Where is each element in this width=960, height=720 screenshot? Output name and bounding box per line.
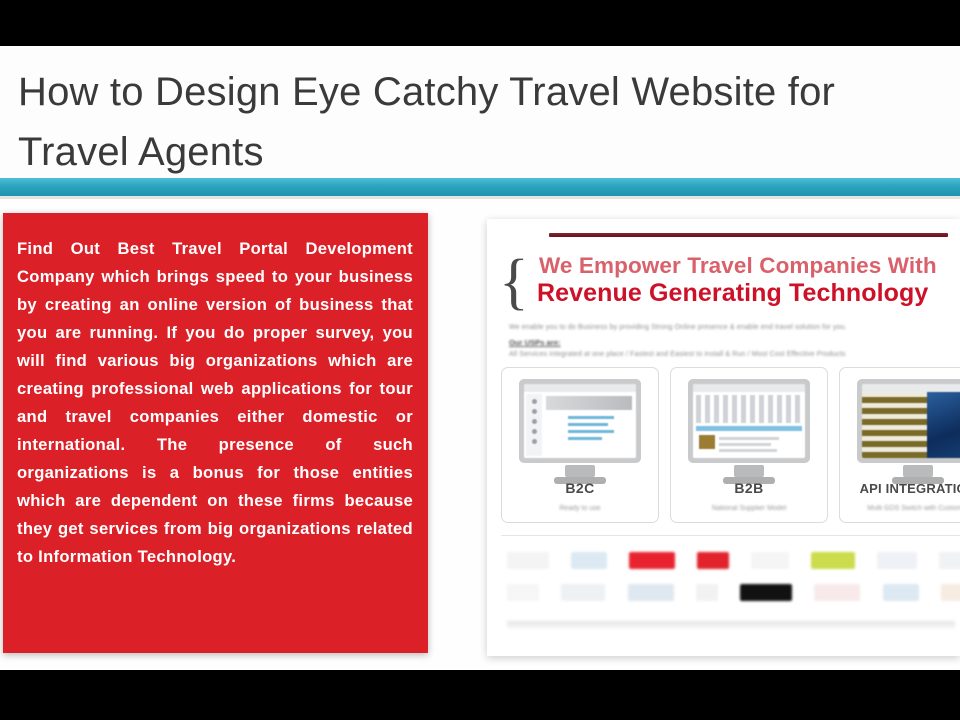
product-card-b2b[interactable]: B2B National Supplier Model bbox=[670, 367, 828, 523]
partner-logo-7 bbox=[877, 552, 917, 569]
partner-logo-5 bbox=[751, 552, 789, 569]
monitor-icon bbox=[688, 379, 810, 471]
product-card-b2c[interactable]: B2C Ready to use bbox=[501, 367, 659, 523]
partner-logo-10 bbox=[561, 584, 605, 601]
title-zone: How to Design Eye Catchy Travel Website … bbox=[0, 46, 960, 178]
card-subtitle: Ready to use bbox=[502, 505, 658, 512]
partner-logo-6 bbox=[811, 552, 855, 569]
page-title: How to Design Eye Catchy Travel Website … bbox=[18, 62, 928, 182]
letterbox-top bbox=[0, 0, 960, 46]
partner-logo-8 bbox=[939, 552, 960, 569]
card-subtitle: Multi GDS Switch with Customer bbox=[840, 505, 960, 512]
promo-headline-bottom: Revenue Generating Technology bbox=[537, 278, 960, 308]
partner-logo-strip bbox=[501, 535, 960, 619]
promo-image-card: { We Empower Travel Companies With Reven… bbox=[487, 219, 960, 656]
card-subtitle: National Supplier Model bbox=[671, 505, 827, 512]
partner-logo-13 bbox=[740, 584, 792, 601]
red-panel-body: Find Out Best Travel Portal Development … bbox=[17, 235, 413, 571]
product-card-row: B2C Ready to use bbox=[501, 367, 960, 527]
monitor-icon bbox=[519, 379, 641, 471]
red-text-panel: Find Out Best Travel Portal Development … bbox=[3, 213, 428, 653]
partner-logo-12 bbox=[696, 584, 718, 601]
monitor-icon bbox=[857, 379, 960, 471]
partner-logo-9 bbox=[507, 584, 539, 601]
slide-canvas: How to Design Eye Catchy Travel Website … bbox=[0, 46, 960, 670]
partner-logo-1 bbox=[507, 552, 549, 569]
partner-logo-16 bbox=[941, 584, 960, 601]
partner-logo-row-1 bbox=[501, 544, 960, 576]
card-title: API INTEGRATION bbox=[840, 481, 960, 496]
usp-label: Our USPs are: bbox=[509, 338, 561, 347]
product-card-api-integration[interactable]: API INTEGRATION Multi GDS Switch with Cu… bbox=[839, 367, 960, 523]
promo-headline-top: We Empower Travel Companies With bbox=[539, 253, 959, 279]
partner-logo-15 bbox=[883, 584, 919, 601]
letterbox-bottom bbox=[0, 670, 960, 720]
usp-line: All Services integrated at one place / F… bbox=[509, 350, 846, 358]
partner-logo-2 bbox=[571, 552, 607, 569]
card-title: B2C bbox=[502, 480, 658, 496]
card-bottom-shadow bbox=[507, 621, 955, 629]
slide-stage: How to Design Eye Catchy Travel Website … bbox=[0, 0, 960, 720]
curly-brace-icon: { bbox=[499, 251, 529, 313]
partner-logo-11 bbox=[628, 584, 674, 601]
teal-divider bbox=[0, 178, 960, 196]
card-title: B2B bbox=[671, 480, 827, 496]
promo-subtitle: We enable you to do Business by providin… bbox=[509, 323, 847, 331]
accent-rule bbox=[549, 233, 948, 237]
partner-logo-14 bbox=[814, 584, 860, 601]
partner-logo-4 bbox=[697, 552, 729, 569]
partner-logo-3 bbox=[629, 552, 675, 569]
partner-logo-row-2 bbox=[501, 576, 960, 608]
